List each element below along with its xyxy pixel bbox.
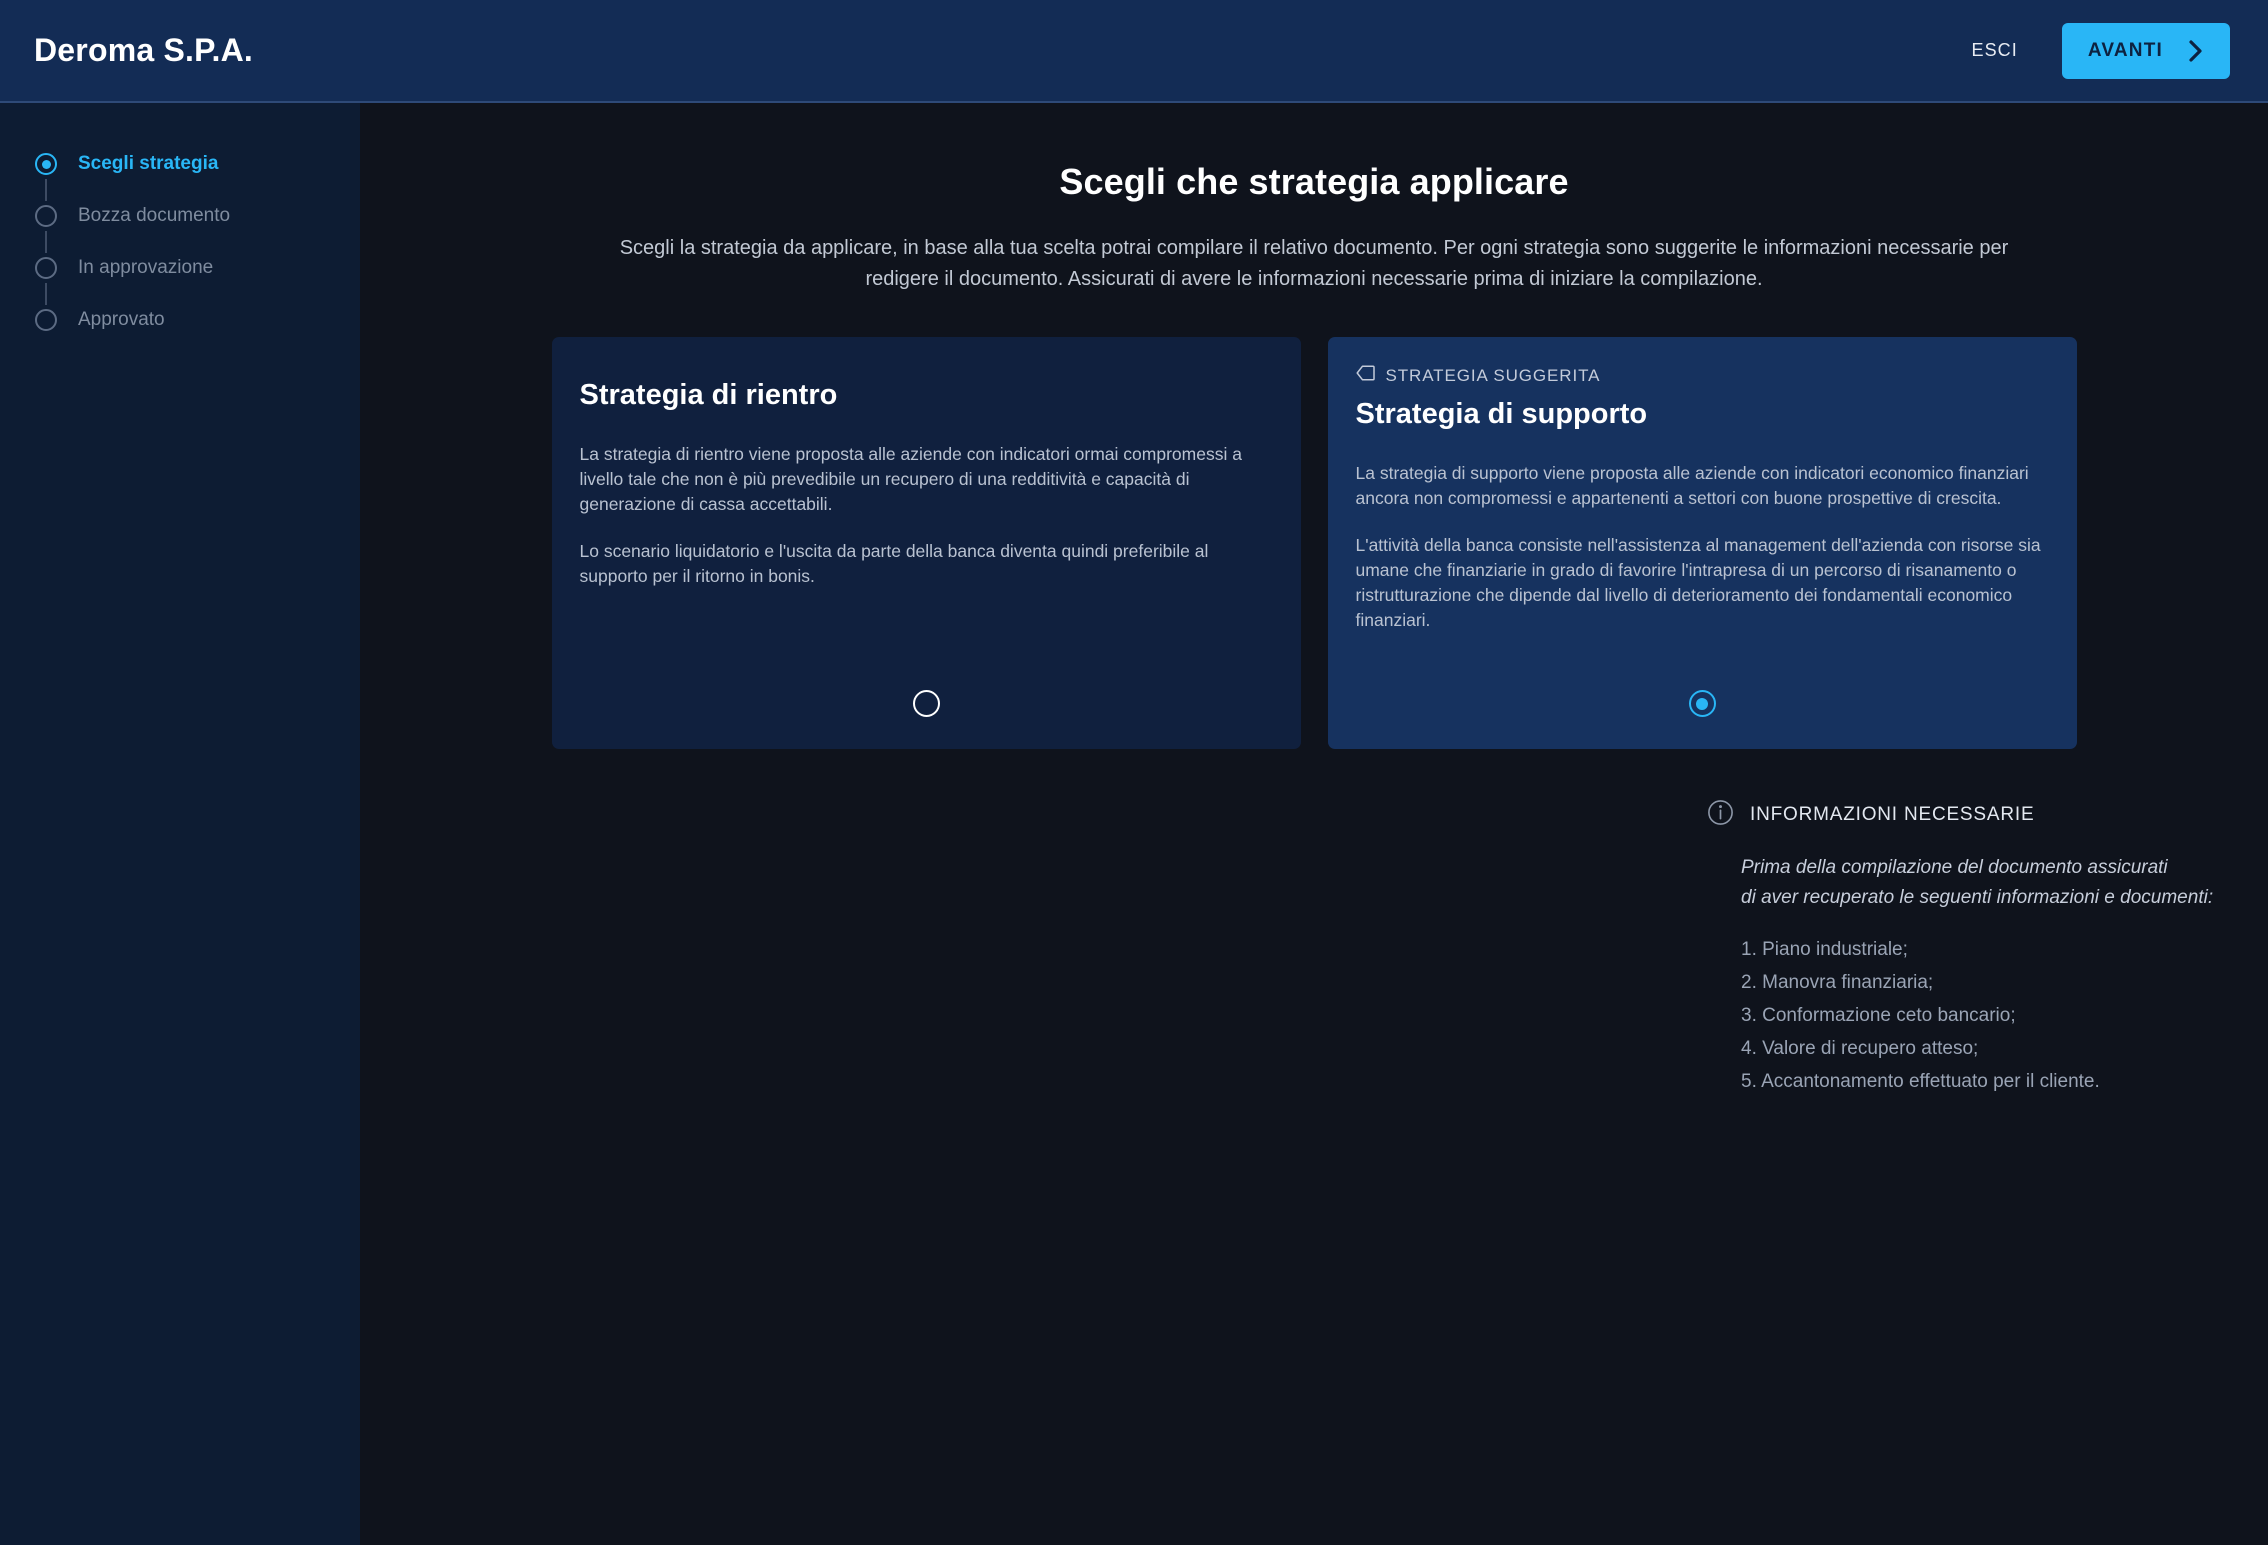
required-info-title: INFORMAZIONI NECESSARIE <box>1750 804 2034 826</box>
card-paragraph: La strategia di rientro viene proposta a… <box>580 442 1273 517</box>
card-paragraph: Lo scenario liquidatorio e l'uscita da p… <box>580 539 1273 589</box>
sidebar-item-scegli-strategia[interactable]: Scegli strategia <box>0 149 360 179</box>
page-subtitle: Scegli la strategia da applicare, in bas… <box>619 233 2009 295</box>
required-info-header: INFORMAZIONI NECESSARIE <box>1707 799 2268 831</box>
strategy-card-rientro[interactable]: Strategia di rientro La strategia di rie… <box>552 337 1301 749</box>
card-radio-area <box>580 690 1273 749</box>
card-title: Strategia di rientro <box>580 379 1273 412</box>
sidebar-item-bozza-documento[interactable]: Bozza documento <box>0 201 360 231</box>
main-content: Scegli che strategia applicare Scegli la… <box>360 103 2268 1545</box>
card-paragraph: La strategia di supporto viene proposta … <box>1356 461 2049 511</box>
sidebar-item-approvato[interactable]: Approvato <box>0 305 360 335</box>
radio-supporto[interactable] <box>1689 690 1716 717</box>
sidebar-item-label: Bozza documento <box>78 205 230 227</box>
card-radio-area <box>1356 690 2049 749</box>
required-info-intro-line: Prima della compilazione del documento a… <box>1741 853 2268 883</box>
info-circle-icon <box>1707 799 1734 831</box>
card-title: Strategia di supporto <box>1356 398 2049 431</box>
step-marker-icon <box>34 152 58 176</box>
step-connector <box>45 231 47 253</box>
sidebar-item-label: Approvato <box>78 309 165 331</box>
sidebar-stepper: Scegli strategia Bozza documento In appr… <box>0 103 360 1545</box>
header-actions: ESCI AVANTI <box>1963 23 2230 79</box>
list-item: 3. Conformazione ceto bancario; <box>1741 999 2268 1032</box>
chevron-right-icon <box>2189 40 2204 62</box>
exit-button[interactable]: ESCI <box>1963 34 2025 67</box>
suggested-badge-label: STRATEGIA SUGGERITA <box>1386 366 1601 386</box>
sidebar-item-in-approvazione[interactable]: In approvazione <box>0 253 360 283</box>
page-title: Scegli che strategia applicare <box>360 161 2268 203</box>
next-button[interactable]: AVANTI <box>2062 23 2230 79</box>
radio-rientro[interactable] <box>913 690 940 717</box>
application-root: Deroma S.P.A. ESCI AVANTI Scegli strateg… <box>0 0 2268 1545</box>
required-info-intro: Prima della compilazione del documento a… <box>1741 853 2268 913</box>
step-connector <box>45 179 47 201</box>
sidebar-item-label: In approvazione <box>78 257 213 279</box>
body-wrapper: Scegli strategia Bozza documento In appr… <box>0 103 2268 1545</box>
step-marker-icon <box>34 308 58 332</box>
list-item: 5. Accantonamento effettuato per il clie… <box>1741 1065 2268 1098</box>
sidebar-item-label: Scegli strategia <box>78 153 218 175</box>
required-info-list: 1. Piano industriale; 2. Manovra finanzi… <box>1741 933 2268 1098</box>
strategy-card-list: Strategia di rientro La strategia di rie… <box>552 337 2077 749</box>
tag-icon <box>1356 365 1375 386</box>
step-marker-icon <box>34 256 58 280</box>
brand-title: Deroma S.P.A. <box>34 32 253 69</box>
required-info-panel: INFORMAZIONI NECESSARIE Prima della comp… <box>1707 799 2268 1098</box>
step-connector <box>45 283 47 305</box>
card-paragraph: L'attività della banca consiste nell'ass… <box>1356 533 2049 633</box>
list-item: 1. Piano industriale; <box>1741 933 2268 966</box>
step-marker-icon <box>34 204 58 228</box>
list-item: 4. Valore di recupero atteso; <box>1741 1032 2268 1065</box>
suggested-badge: STRATEGIA SUGGERITA <box>1356 365 2049 386</box>
list-item: 2. Manovra finanziaria; <box>1741 966 2268 999</box>
next-button-label: AVANTI <box>2088 40 2163 62</box>
required-info-intro-line: di aver recuperato le seguenti informazi… <box>1741 883 2268 913</box>
strategy-card-supporto[interactable]: STRATEGIA SUGGERITA Strategia di support… <box>1328 337 2077 749</box>
app-header: Deroma S.P.A. ESCI AVANTI <box>0 0 2268 103</box>
